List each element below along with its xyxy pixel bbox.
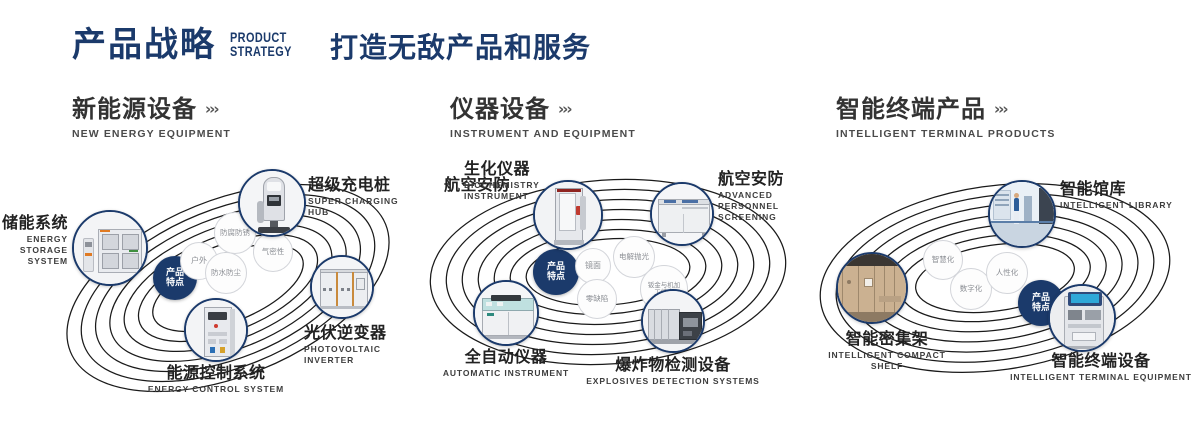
feature-bubble-text-0-2: 防水防尘 [211, 269, 241, 278]
node-intelligent-compact-shelf[interactable] [836, 252, 908, 324]
cluster-instrument: 产品 特点 镜面 电解抛光 零缺陷 钣金与机加工结合 航空安防 [400, 0, 820, 422]
node-label-cn-1-0: 生化仪器 [464, 160, 540, 178]
node-label-en-1-0: BIOCHEMISTRY INSTRUMENT [464, 180, 540, 202]
feature-bubble-zero-defect: 零缺陷 [577, 279, 617, 319]
node-label-cn-0-0: 储能系统 [0, 214, 68, 232]
node-intelligent-library[interactable] [988, 180, 1056, 248]
node-label-en-1-3: AUTOMATIC INSTRUMENT [436, 368, 576, 379]
node-label-cn-0-3: 能源控制系统 [120, 364, 312, 382]
node-super-charging-hub[interactable] [238, 169, 306, 237]
core-bubble-line1-2: 产品 [1032, 293, 1050, 303]
node-automatic-instrument[interactable] [473, 280, 539, 346]
core-bubble-instrument: 产品 特点 [533, 249, 579, 295]
node-label-biochemistry-instrument: 生化仪器 BIOCHEMISTRY INSTRUMENT [464, 160, 540, 202]
feature-bubble-humanization: 人性化 [986, 252, 1028, 294]
energy-storage-cabinet-icon [74, 212, 146, 284]
core-bubble-line2-0: 特点 [166, 278, 184, 288]
core-bubble-line2-1: 特点 [547, 272, 565, 282]
feature-bubble-text-0-3: 气密性 [262, 248, 285, 257]
node-label-automatic-instrument: 全自动仪器 AUTOMATIC INSTRUMENT [436, 348, 576, 379]
node-label-cn-2-2: 智能终端设备 [1006, 352, 1196, 370]
node-advanced-personnel-screening[interactable] [650, 182, 714, 246]
node-label-cn-2-1: 智能密集架 [782, 330, 992, 348]
node-label-energy-control-system: 能源控制系统 ENERGY CONTROL SYSTEM [120, 364, 312, 395]
node-label-en-0-3: ENERGY CONTROL SYSTEM [120, 384, 312, 395]
node-label-en-2-2: INTELLIGENT TERMINAL EQUIPMENT [1006, 372, 1196, 383]
node-label-en-0-0: ENERGY STORAGE SYSTEM [0, 234, 68, 267]
poster-canvas: 产品战略 PRODUCT STRATEGY 打造无敌产品和服务 新能源设备 ››… [0, 0, 1200, 422]
node-label-intelligent-compact-shelf: 智能密集架 INTELLIGENT COMPACT SHELF [782, 330, 992, 372]
node-label-cn-1-2: 爆炸物检测设备 [578, 356, 768, 374]
self-service-kiosk-icon [1050, 286, 1114, 350]
feature-bubble-text-2-1: 数字化 [960, 285, 983, 294]
feature-bubble-waterproof: 防水防尘 [205, 252, 247, 294]
node-label-en-2-1: INTELLIGENT COMPACT SHELF [782, 350, 992, 372]
explosives-detector-icon [643, 291, 703, 351]
core-bubble-line1-1: 产品 [547, 262, 565, 272]
node-label-cn-1-3: 全自动仪器 [436, 348, 576, 366]
feature-bubble-text-1-1: 电解抛光 [619, 253, 649, 262]
feature-bubble-text-1-2: 零缺陷 [586, 295, 609, 304]
automatic-instrument-icon [475, 282, 537, 344]
node-energy-storage-system[interactable] [72, 210, 148, 286]
node-label-explosives-detection-systems: 爆炸物检测设备 EXPLOSIVES DETECTION SYSTEMS [578, 356, 768, 387]
feature-bubble-text-1-0: 镜面 [585, 261, 601, 270]
feature-bubble-text-2-2: 人性化 [996, 269, 1019, 278]
cluster-new-energy: 产品 特点 户外 防腐防锈 防水防尘 气密性 [0, 0, 420, 422]
charging-pile-icon [240, 171, 304, 235]
node-energy-control-system[interactable] [184, 298, 248, 362]
smart-library-room-icon [990, 182, 1054, 246]
feature-bubble-airtightness: 气密性 [253, 232, 293, 272]
node-label-en-2-0: INTELLIGENT LIBRARY [1060, 200, 1173, 211]
node-photovoltaic-inverter[interactable] [310, 255, 374, 319]
feature-bubble-text-0-0: 户外 [191, 256, 207, 265]
node-label-cn-2-0: 智能馆库 [1060, 180, 1173, 198]
cluster-intelligent-terminal: 智慧化 数字化 人性化 产品 特点 [790, 0, 1200, 422]
screening-machine-icon [652, 184, 712, 244]
pv-inverter-cabinet-icon [312, 257, 372, 317]
core-bubble-line2-2: 特点 [1032, 303, 1050, 313]
node-explosives-detection-systems[interactable] [641, 289, 705, 353]
node-label-en-1-2: EXPLOSIVES DETECTION SYSTEMS [578, 376, 768, 387]
node-biochemistry-instrument[interactable] [533, 180, 603, 250]
biochemistry-analyzer-icon [535, 182, 601, 248]
node-intelligent-terminal-equipment[interactable] [1048, 284, 1116, 352]
node-label-energy-storage-system: 储能系统 ENERGY STORAGE SYSTEM [0, 214, 68, 268]
feature-bubble-text-2-0: 智慧化 [932, 256, 955, 265]
compact-shelving-icon [838, 254, 906, 322]
node-label-intelligent-library: 智能馆库 INTELLIGENT LIBRARY [1060, 180, 1173, 211]
node-label-intelligent-terminal-equipment: 智能终端设备 INTELLIGENT TERMINAL EQUIPMENT [1006, 352, 1196, 383]
control-cabinet-icon [186, 300, 246, 360]
